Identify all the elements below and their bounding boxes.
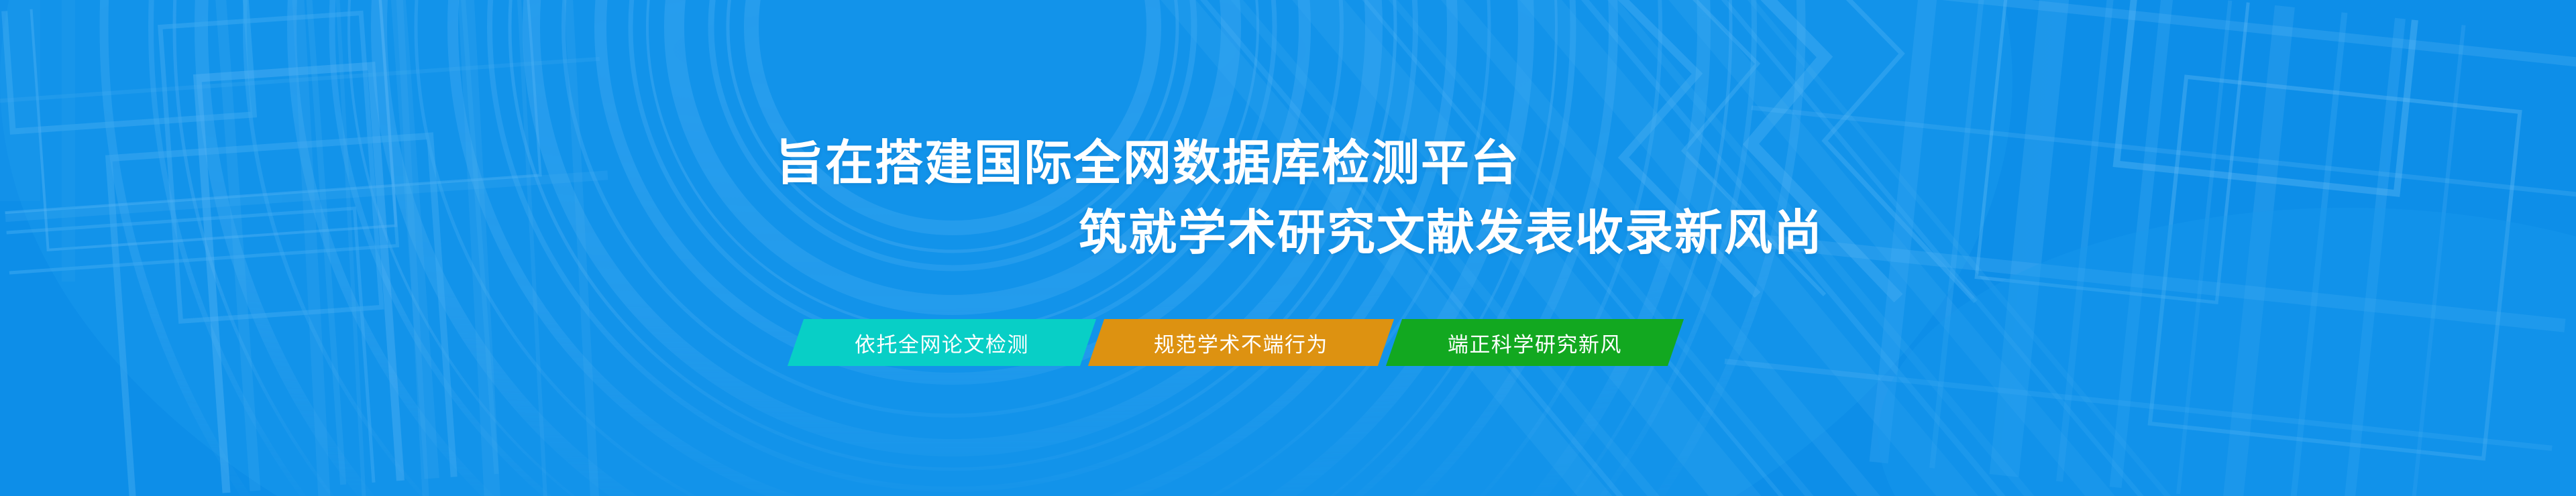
left-bright-block — [0, 0, 75, 282]
feature-tag-3-label: 端正科学研究新风 — [1448, 328, 1622, 358]
right-grid-shapes — [1690, 0, 2576, 496]
feature-tag-2[interactable]: 规范学术不端行为 — [1088, 319, 1394, 366]
headline-line-1: 旨在搭建国际全网数据库检测平台 — [775, 139, 1520, 188]
feature-tag-1-label: 依托全网论文检测 — [855, 328, 1029, 358]
left-vertical-streaks — [290, 0, 602, 496]
feature-tag-3[interactable]: 端正科学研究新风 — [1386, 319, 1684, 366]
feature-tag-1[interactable]: 依托全网论文检测 — [788, 319, 1096, 366]
left-grid-shapes — [0, 0, 633, 496]
headline-line-2: 筑就学术研究文献发表收录新风尚 — [1079, 209, 1823, 257]
promo-banner: 旨在搭建国际全网数据库检测平台 筑就学术研究文献发表收录新风尚 依托全网论文检测… — [0, 0, 2576, 496]
feature-tag-2-label: 规范学术不端行为 — [1154, 328, 1328, 358]
